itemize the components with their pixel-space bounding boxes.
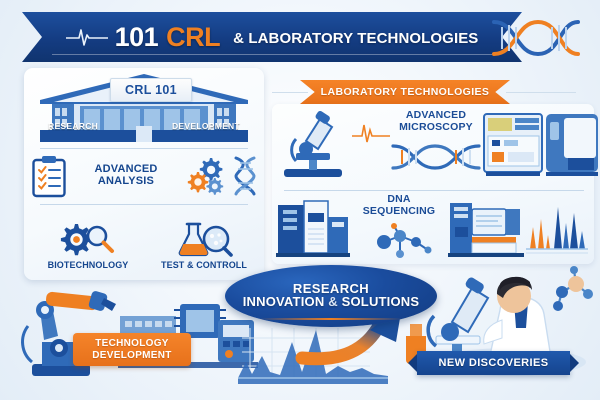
feature-label-biotechnology: BIOTECHNOLOGY [48, 260, 129, 270]
dna-helix-icon [490, 18, 580, 58]
workstation-icon [448, 199, 524, 259]
ribbon-line-right [506, 92, 576, 93]
header-brand: CRL [166, 24, 220, 51]
tech-label-sequencing: DNA SEQUENCING [350, 194, 448, 218]
tech-banner-line1: TECHNOLOGY [95, 338, 169, 350]
center-badge-line1: RESEARCH [293, 282, 369, 296]
header-banner: 101 CRL & LABORATORY TECHNOLOGIES [0, 12, 600, 62]
new-discoveries-banner: NEW DISCOVERIES [417, 351, 570, 375]
center-badge-innovation: INNOVATION [243, 294, 325, 309]
tech-row-microscopy: ADVANCED MICROSCOPY [276, 108, 590, 182]
lab-cabinet-icon [544, 112, 600, 178]
ribbon-label: LABORATORY TECHNOLOGIES [321, 86, 490, 98]
dna-helix-icon [390, 142, 482, 172]
gears-icon [186, 156, 226, 196]
lab-analyzer-icon [482, 112, 544, 178]
divider-3 [284, 190, 584, 191]
ecg-heartbeat-icon [66, 26, 108, 48]
molecule-icon [364, 224, 434, 258]
feature-label-advanced-analysis: ADVANCED ANALYSIS [72, 164, 180, 187]
divider-2 [40, 204, 248, 205]
infographic-poster: 101 CRL & LABORATORY TECHNOLOGIES [0, 0, 600, 400]
new-discoveries-label: NEW DISCOVERIES [439, 357, 549, 369]
tech-banner-line2: DEVELOPMENT [92, 350, 171, 362]
clipboard-checklist-icon [32, 155, 66, 197]
flask-magnifier-icon [175, 222, 233, 258]
header-number: 101 [115, 24, 159, 51]
center-badge: RESEARCH INNOVATION & SOLUTIONS [225, 265, 437, 327]
microscope-icon [276, 109, 350, 181]
center-badge-amp: & [328, 294, 338, 309]
building-sign: CRL 101 [110, 78, 192, 102]
building-label-research: RESEARCH [48, 121, 98, 131]
divider-1 [40, 148, 248, 149]
header-subtitle: & LABORATORY TECHNOLOGIES [233, 30, 478, 47]
building-label-development: DEVELOPMENT [172, 121, 240, 131]
feature-biotechnology: BIOTECHNOLOGY [30, 222, 146, 270]
building-labels: RESEARCH DEVELOPMENT [40, 118, 248, 134]
center-badge-solutions: SOLUTIONS [342, 294, 420, 309]
sequencer-icon [276, 199, 350, 259]
tech-label-microscopy: ADVANCED MICROSCOPY [390, 110, 482, 134]
building-sign-text: CRL 101 [125, 83, 177, 97]
tech-row-sequencing: DNA SEQUENCING [276, 196, 590, 262]
technology-development-banner: TECHNOLOGY DEVELOPMENT [73, 333, 191, 366]
laboratory-technologies-ribbon: LABORATORY TECHNOLOGIES [300, 80, 510, 104]
feature-label-test-control: TEST & CONTROLL [161, 260, 247, 270]
feature-row-biotech-test: BIOTECHNOLOGY TEST & CONTROLL [30, 208, 262, 270]
feature-test-control: TEST & CONTROLL [146, 222, 262, 270]
gear-magnifier-icon [59, 222, 117, 258]
ribbon-line-left [272, 92, 308, 93]
feature-row-advanced-analysis: ADVANCED ANALYSIS [32, 152, 258, 200]
chromatogram-chart-icon [524, 203, 590, 255]
ecg-trace-icon [352, 120, 390, 144]
dna-helix-icon [232, 156, 258, 196]
